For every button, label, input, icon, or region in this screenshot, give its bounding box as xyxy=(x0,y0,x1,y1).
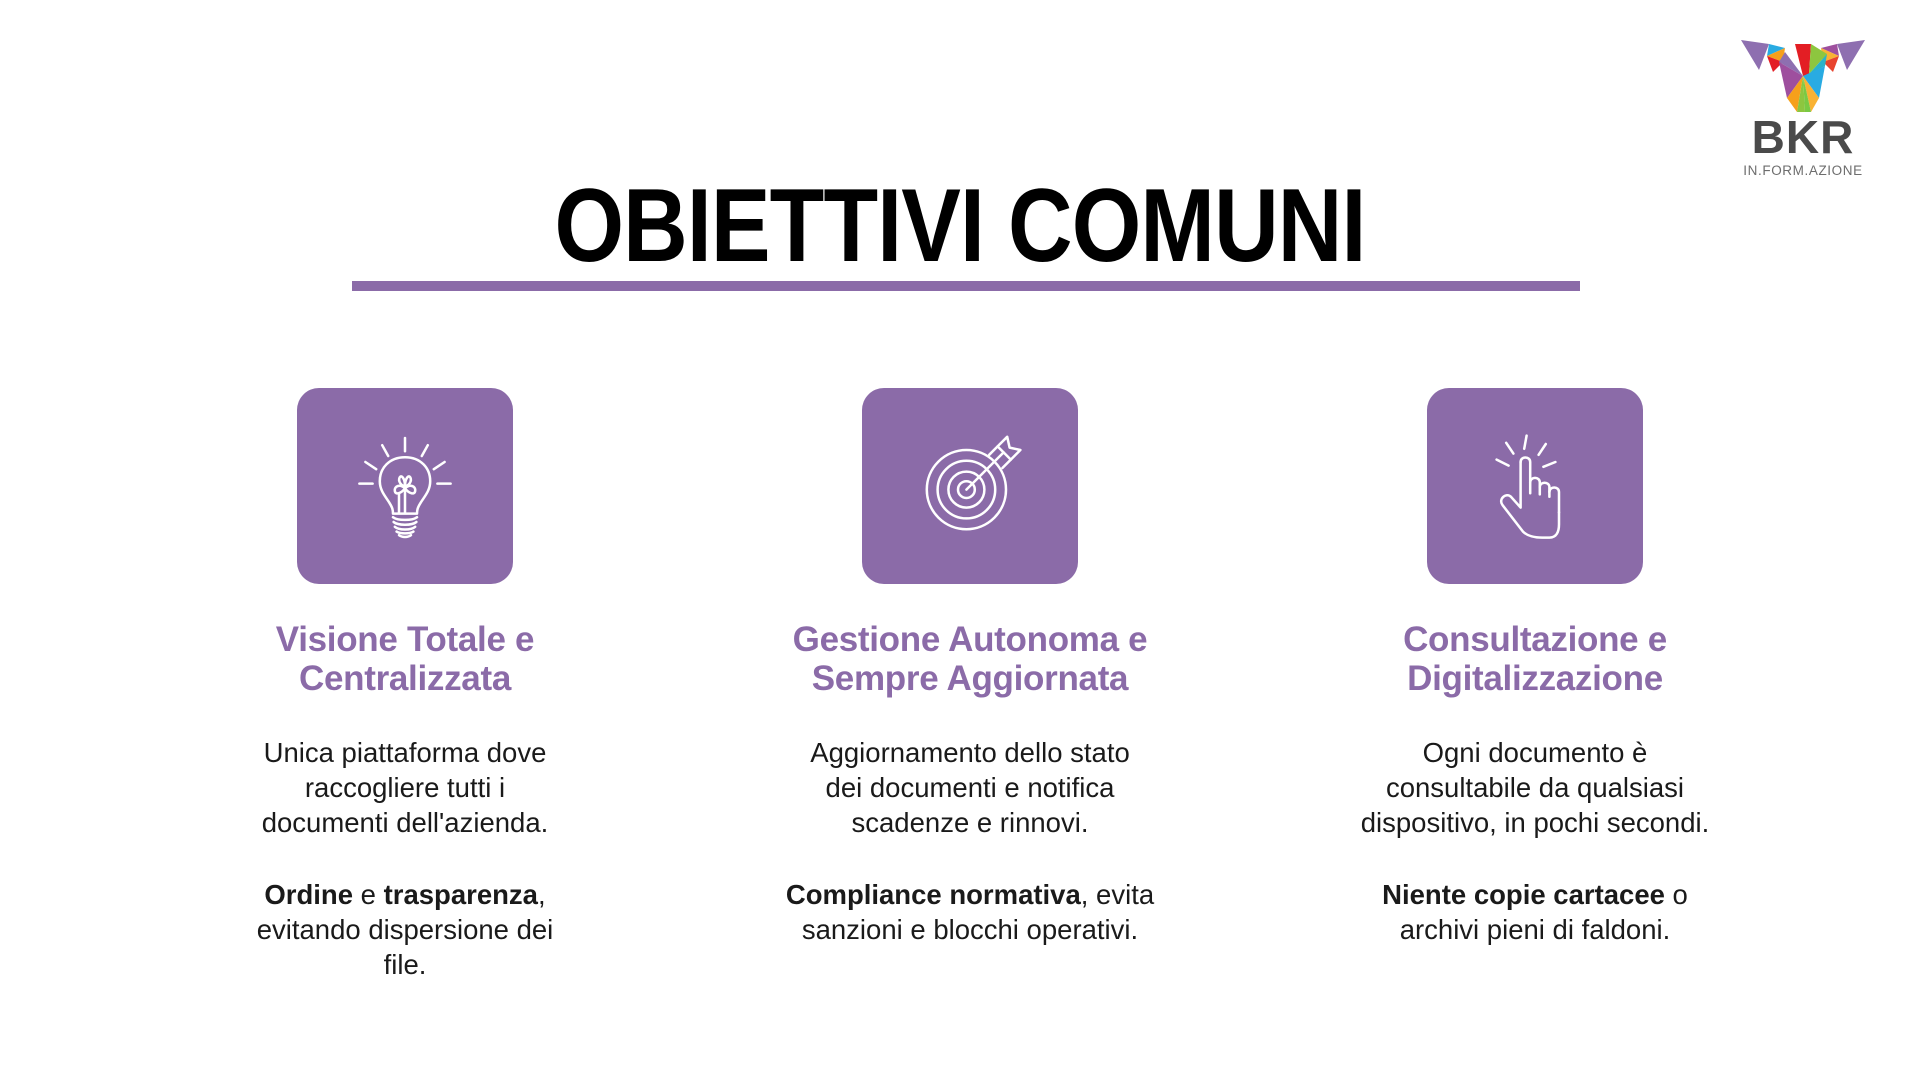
logo-wordmark: BKR xyxy=(1718,116,1888,160)
card-highlight-lead-1b: trasparenza xyxy=(384,879,538,910)
card-highlight-1: Ordine e trasparenza, evitando dispersio… xyxy=(235,878,575,982)
card-highlight-2: Compliance normativa, evita sanzioni e b… xyxy=(770,878,1170,947)
card-highlight-lead-3a: Niente copie cartacee xyxy=(1382,879,1665,910)
icon-tile-3 xyxy=(1427,388,1643,584)
objective-card-1: Visione Totale e Centralizzata Unica pia… xyxy=(190,388,620,982)
slide-canvas: BKR IN.FORM.AZIONE OBIETTIVI COMUNI xyxy=(0,0,1920,1080)
card-heading-1: Visione Totale e Centralizzata xyxy=(205,620,605,698)
title-divider xyxy=(352,281,1580,291)
card-highlight-mid-1: e xyxy=(353,879,384,910)
objective-card-2: Gestione Autonoma e Sempre Aggiornata Ag… xyxy=(755,388,1185,948)
icon-tile-1 xyxy=(297,388,513,584)
card-body-3: Ogni documento è consultabile da qualsia… xyxy=(1360,736,1710,840)
card-highlight-lead-2a: Compliance normativa xyxy=(786,879,1081,910)
lightbulb-icon xyxy=(345,426,465,546)
objectives-columns: Visione Totale e Centralizzata Unica pia… xyxy=(190,388,1750,982)
bkr-bull-logo-icon xyxy=(1733,18,1873,114)
card-heading-2: Gestione Autonoma e Sempre Aggiornata xyxy=(770,620,1170,698)
card-highlight-3: Niente copie cartacee o archivi pieni di… xyxy=(1370,878,1700,947)
target-arrow-icon xyxy=(910,426,1030,546)
tap-hand-icon xyxy=(1475,426,1595,546)
card-highlight-lead-1a: Ordine xyxy=(264,879,353,910)
page-title: OBIETTIVI COMUNI xyxy=(134,174,1785,278)
bkr-logo: BKR IN.FORM.AZIONE xyxy=(1718,18,1888,178)
card-body-1: Unica piattaforma dove raccogliere tutti… xyxy=(250,736,560,840)
objective-card-3: Consultazione e Digitalizzazione Ogni do… xyxy=(1320,388,1750,948)
card-heading-3: Consultazione e Digitalizzazione xyxy=(1335,620,1735,698)
card-body-2: Aggiornamento dello stato dei documenti … xyxy=(800,736,1140,840)
icon-tile-2 xyxy=(862,388,1078,584)
